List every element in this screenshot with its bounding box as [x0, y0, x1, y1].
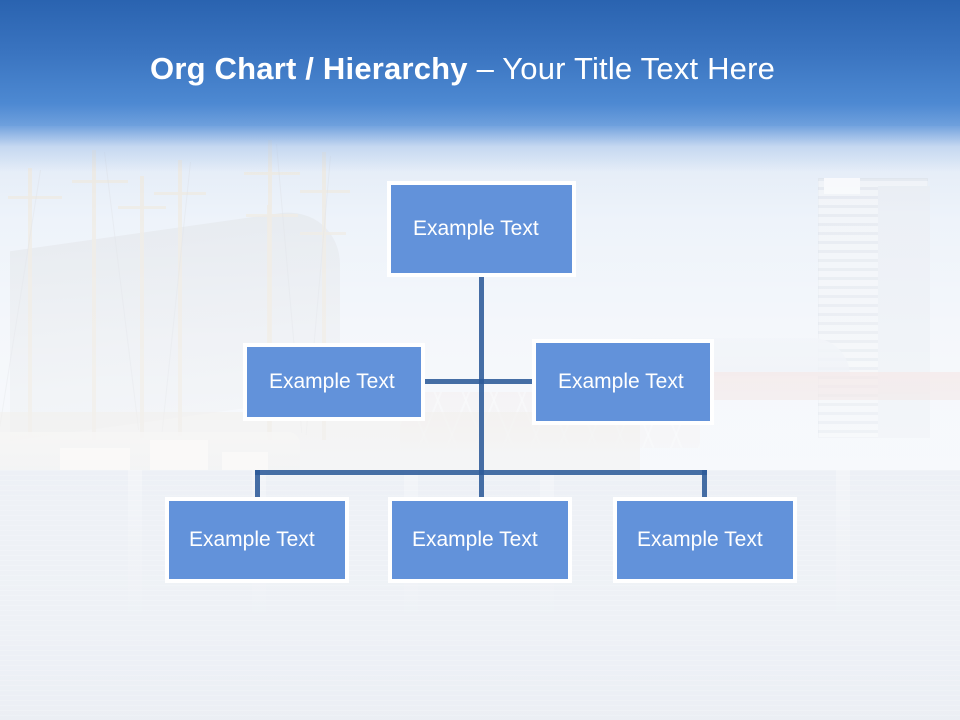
org-node-bottom-left-label: Example Text	[189, 528, 315, 552]
org-node-mid-left[interactable]: Example Text	[243, 343, 425, 421]
page-title-bold: Org Chart / Hierarchy	[150, 51, 468, 86]
connector-drop-bottom-right	[702, 470, 707, 499]
page-title-regular: Your Title Text Here	[502, 51, 775, 86]
slide-canvas: Org Chart / Hierarchy – Your Title Text …	[0, 0, 960, 720]
org-node-bottom-center-label: Example Text	[412, 528, 538, 552]
org-node-mid-left-label: Example Text	[269, 370, 395, 394]
connector-level3-horizontal	[255, 470, 707, 475]
org-node-mid-right[interactable]: Example Text	[532, 339, 714, 425]
connector-trunk-vertical	[479, 277, 484, 499]
org-node-top[interactable]: Example Text	[387, 181, 576, 277]
page-title-separator: –	[468, 51, 503, 86]
title-bar-fade	[0, 126, 960, 172]
org-node-mid-right-label: Example Text	[558, 370, 684, 394]
org-node-bottom-right-label: Example Text	[637, 528, 763, 552]
org-node-bottom-right[interactable]: Example Text	[613, 497, 797, 583]
org-node-bottom-center[interactable]: Example Text	[388, 497, 572, 583]
org-node-bottom-left[interactable]: Example Text	[165, 497, 349, 583]
org-node-top-label: Example Text	[413, 217, 539, 241]
page-title: Org Chart / Hierarchy – Your Title Text …	[150, 51, 775, 87]
connector-drop-bottom-left	[255, 470, 260, 499]
connector-level2-horizontal	[423, 379, 534, 384]
